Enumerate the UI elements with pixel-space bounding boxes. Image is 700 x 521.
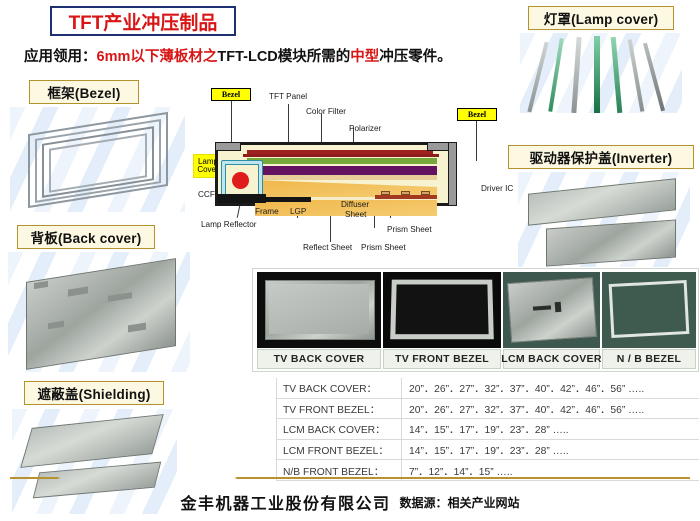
subtitle-part1: 应用领用： [24, 45, 97, 66]
label-back-cover: 背板(Back cover) [17, 225, 155, 249]
panel-cross-section [215, 142, 457, 206]
spec-table: TV BACK COVER： 20”．26”．27”．32”．37”．40”．4… [252, 378, 699, 482]
label-inverter-text: 驱动器保护盖(Inverter) [530, 147, 673, 167]
spec-row-tv-back-cover: TV BACK COVER： 20”．26”．27”．32”．37”．40”．4… [276, 378, 699, 399]
footer: 金丰机器工业股份有限公司 数据源：相关产业网站 [0, 487, 700, 517]
page-title-box: TFT产业冲压制品 [50, 6, 236, 36]
label-shielding: 遮蔽盖(Shielding) [24, 381, 164, 405]
grid-cell-lcm-back-cover [503, 272, 600, 348]
spec-sizes-tv-back-cover: 20”．26”．27”．32”．37”．40”．42”．46”．56” ….. [402, 380, 699, 395]
subtitle-part2: 6mm以下薄板材之 [97, 45, 218, 66]
diagram-label-ccfl: CCFL [198, 190, 219, 199]
callout-bezel-right-text: Bezel [468, 110, 486, 119]
callout-bezel-left-text: Bezel [222, 90, 240, 99]
photo-lamp-cover [520, 33, 682, 113]
grid-caption-tv-front-bezel: TV FRONT BEZEL [383, 349, 501, 369]
spec-sizes-lcm-back-cover: 14”．15”．17”．19”．23”．28” ….. [402, 421, 699, 436]
diagram-label-polarizer: Polarizer [349, 124, 381, 133]
page-title: TFT产业冲压制品 [69, 8, 218, 35]
diagram-label-diffuser-1: Diffuser [341, 200, 369, 209]
grid-caption-nb-bezel: N / B BEZEL [602, 349, 696, 369]
spec-sizes-tv-front-bezel: 20”．26”．27”．32”．37”．40”．42”．46”．56” ….. [402, 401, 699, 416]
label-shielding-text: 遮蔽盖(Shielding) [37, 383, 150, 403]
diagram-label-diffuser-2: Sheet [345, 210, 366, 219]
label-inverter: 驱动器保护盖(Inverter) [508, 145, 694, 169]
grid-caption-tv-front-bezel-text: TV FRONT BEZEL [395, 353, 489, 365]
spec-name-tv-front-bezel: TV FRONT BEZEL： [276, 399, 402, 419]
spec-name-lcm-front-bezel: LCM FRONT BEZEL： [276, 440, 402, 460]
grid-caption-lcm-back-cover-text: LCM BACK COVER [501, 353, 601, 365]
spec-row-tv-front-bezel: TV FRONT BEZEL： 20”．26”．27”．32”．37”．40”．… [276, 399, 699, 420]
label-lamp-cover: 灯罩(Lamp cover) [528, 6, 674, 30]
photo-inverter [518, 172, 690, 267]
callout-bezel-right: Bezel [457, 108, 497, 121]
grid-cell-tv-back-cover [257, 272, 381, 348]
spec-sizes-lcm-front-bezel: 14”．15”．17”．19”．23”．28” ….. [402, 442, 699, 457]
product-photo-grid: TV BACK COVER TV FRONT BEZEL LCM BACK CO… [252, 268, 699, 372]
label-lamp-cover-text: 灯罩(Lamp cover) [544, 8, 659, 28]
diagram-label-color-filter: Color Filter [306, 107, 346, 116]
spec-row-lcm-front-bezel: LCM FRONT BEZEL： 14”．15”．17”．19”．23”．28”… [276, 440, 699, 461]
spec-name-lcm-back-cover: LCM BACK COVER： [276, 419, 402, 439]
lcd-cross-section-diagram: Bezel Bezel Lamp Cover [193, 86, 505, 261]
grid-caption-tv-back-cover: TV BACK COVER [257, 349, 381, 369]
footer-source: 数据源：相关产业网站 [400, 494, 520, 511]
subtitle-part3: TFT-LCD模块所需的 [217, 45, 350, 66]
diagram-label-tft-panel: TFT Panel [269, 92, 307, 101]
subtitle: 应用领用：6mm以下薄板材之TFT-LCD模块所需的中型冲压零件。 [24, 44, 452, 66]
footer-company: 金丰机器工业股份有限公司 [180, 490, 390, 514]
diagram-label-driver-ic: Driver IC [481, 184, 513, 193]
footer-divider [10, 477, 690, 479]
slide-page: TFT产业冲压制品 应用领用：6mm以下薄板材之TFT-LCD模块所需的中型冲压… [0, 0, 700, 521]
diagram-label-lgp: LGP [290, 207, 306, 216]
grid-caption-nb-bezel-text: N / B BEZEL [617, 353, 682, 365]
spec-row-lcm-back-cover: LCM BACK COVER： 14”．15”．17”．19”．23”．28” … [276, 419, 699, 440]
grid-caption-lcm-back-cover: LCM BACK COVER [503, 349, 600, 369]
grid-cell-nb-bezel [602, 272, 696, 348]
diagram-label-prism-sheet-2: Prism Sheet [387, 225, 432, 234]
subtitle-part4: 中型 [350, 45, 379, 66]
diagram-label-lamp-reflector: Lamp Reflector [201, 220, 257, 229]
label-bezel-text: 框架(Bezel) [47, 82, 120, 102]
photo-bezel [10, 107, 185, 212]
diagram-label-reflect-sheet: Reflect Sheet [303, 243, 352, 252]
diagram-label-prism-sheet-1: Prism Sheet [361, 243, 406, 252]
callout-bezel-left: Bezel [211, 88, 251, 101]
label-back-cover-text: 背板(Back cover) [31, 227, 142, 247]
spec-name-tv-back-cover: TV BACK COVER： [276, 378, 402, 398]
grid-cell-tv-front-bezel [383, 272, 501, 348]
ccfl-lamp [232, 172, 249, 189]
photo-back-cover [8, 252, 190, 372]
diagram-label-frame: Frame [255, 207, 279, 216]
label-bezel: 框架(Bezel) [29, 80, 139, 104]
grid-caption-tv-back-cover-text: TV BACK COVER [274, 353, 365, 365]
spec-sizes-nb-front-bezel: 7”．12”．14”．15” ….. [402, 463, 699, 478]
subtitle-part5: 冲压零件。 [379, 45, 452, 66]
